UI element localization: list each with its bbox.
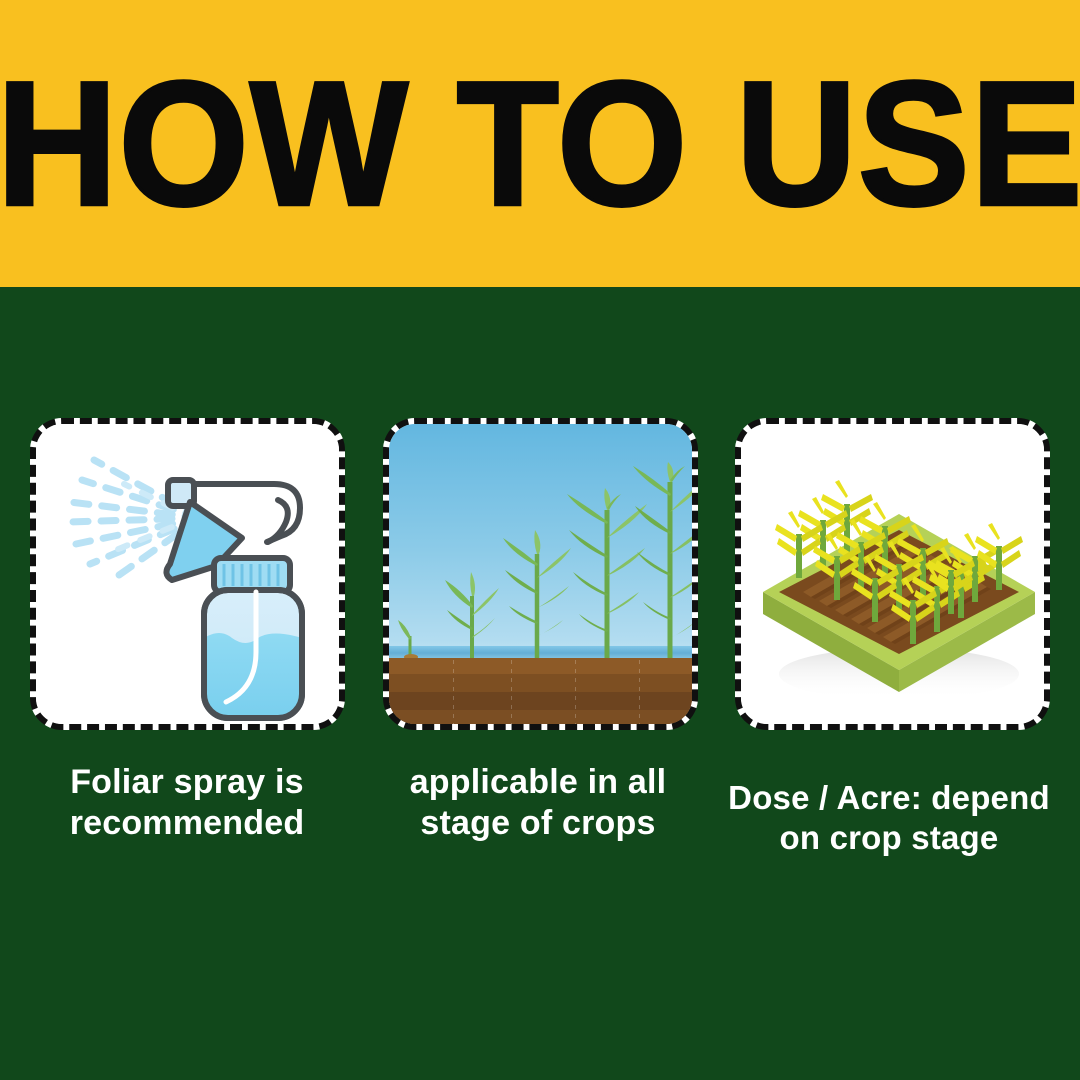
soil-divider — [639, 660, 640, 724]
card-dose-per-acre[interactable] — [735, 418, 1050, 730]
soil-divider — [453, 660, 454, 724]
card-crop-stages[interactable] — [383, 418, 698, 730]
card-foliar-spray[interactable] — [30, 418, 345, 730]
caption-foliar-spray: Foliar spray is recommended — [12, 762, 362, 845]
crop-plant-stage-1 — [395, 618, 429, 658]
spray-bottle-illustration — [36, 424, 339, 724]
caption-dose-per-acre: Dose / Acre: depend on crop stage — [706, 778, 1072, 859]
card-row — [30, 418, 1050, 730]
soil-divider — [575, 660, 576, 724]
caption-row: Foliar spray is recommended applicable i… — [0, 752, 1080, 892]
isometric-field-icon — [741, 424, 1050, 730]
caption-crop-stages: applicable in all stage of crops — [368, 762, 708, 845]
crop-plant-stage-2 — [441, 566, 503, 658]
poster-root: HOW TO USE — [0, 0, 1080, 1080]
crop-plant-stage-5 — [629, 462, 698, 658]
spray-bottle-icon — [156, 462, 331, 724]
isometric-crop-field-illustration — [741, 424, 1044, 724]
soil-divider — [511, 660, 512, 724]
soil-layer-bottom — [389, 710, 692, 724]
page-title: HOW TO USE — [0, 0, 1080, 304]
crop-growth-stages-illustration — [389, 424, 692, 724]
